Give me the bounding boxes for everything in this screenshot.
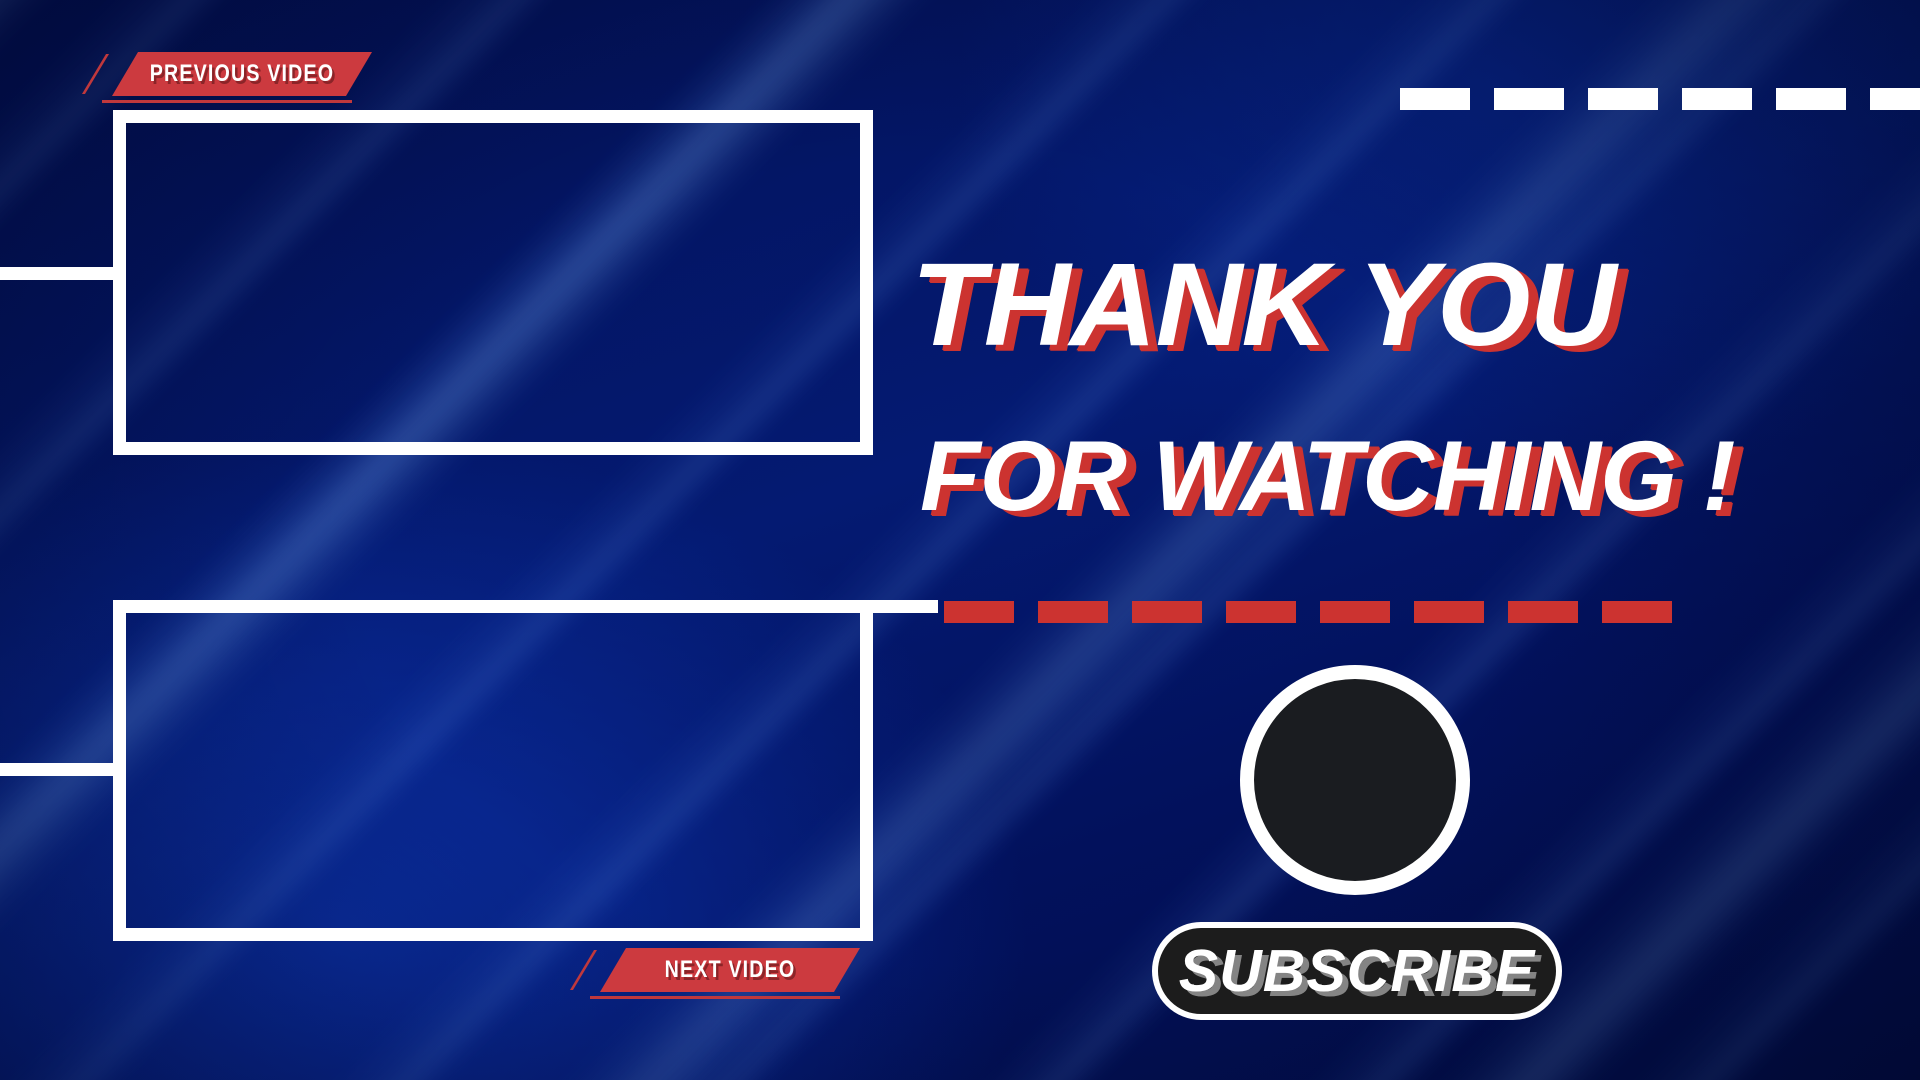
red-dash-segment [1038, 601, 1108, 623]
previous-video-thumbnail-slot[interactable] [113, 110, 873, 455]
previous-video-banner[interactable]: PREVIOUS VIDEO [112, 52, 372, 96]
previous-video-banner-label: PREVIOUS VIDEO [135, 52, 348, 96]
next-video-banner[interactable]: NEXT VIDEO [600, 948, 860, 992]
banner-underline-next [590, 996, 840, 999]
frame-connector-stub-bottom-left [0, 763, 113, 776]
red-dash-segment [1508, 601, 1578, 623]
channel-avatar-placeholder[interactable] [1240, 665, 1470, 895]
next-video-banner-label: NEXT VIDEO [623, 948, 836, 992]
red-dash-segment [1226, 601, 1296, 623]
headline-block: THANK YOU FOR WATCHING ! [920, 246, 1790, 525]
white-dash-segment [1400, 88, 1470, 110]
white-dash-segment [1588, 88, 1658, 110]
white-dashed-rule [1400, 88, 1920, 110]
frame-connector-stub-top-left [0, 267, 113, 280]
red-dashed-rule [944, 601, 1672, 623]
red-dash-segment [944, 601, 1014, 623]
banner-underline-previous [102, 100, 352, 103]
white-dash-segment [1870, 88, 1920, 110]
headline-line-2: FOR WATCHING ! [920, 426, 1790, 525]
red-dash-segment [1320, 601, 1390, 623]
red-dash-segment [1132, 601, 1202, 623]
white-dash-segment [1494, 88, 1564, 110]
end-screen-canvas: PREVIOUS VIDEO NEXT VIDEO THANK YOU FOR … [0, 0, 1920, 1080]
next-video-thumbnail-slot[interactable] [113, 600, 873, 941]
red-dash-segment [1602, 601, 1672, 623]
white-dash-segment [1682, 88, 1752, 110]
white-dash-segment [1776, 88, 1846, 110]
subscribe-button[interactable]: SUBSCRIBE [1152, 922, 1562, 1020]
headline-line-1: THANK YOU [911, 246, 1798, 364]
red-dash-segment [1414, 601, 1484, 623]
subscribe-button-label: SUBSCRIBE [1179, 937, 1536, 1005]
